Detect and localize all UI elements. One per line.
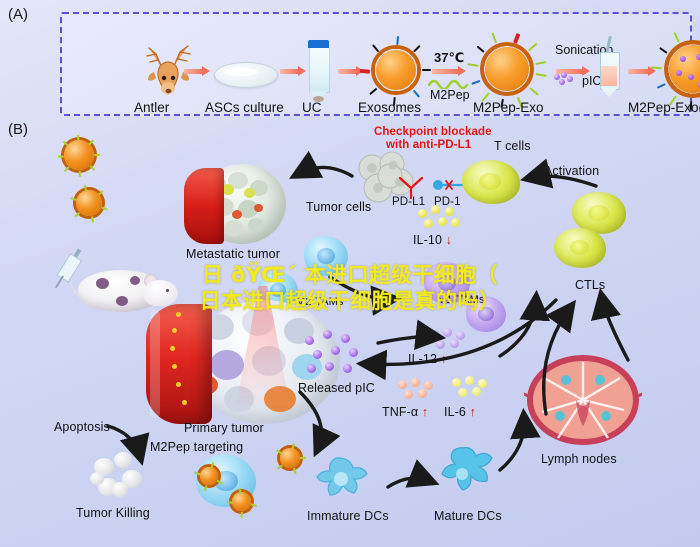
label-lymph-nodes: Lymph nodes xyxy=(541,452,617,466)
metastatic-tumor-illustration xyxy=(184,158,294,250)
label-tumor-killing: Tumor Killing xyxy=(76,506,150,520)
apoptotic-cell-illustration xyxy=(88,448,150,506)
arrow-ascs-to-uc xyxy=(280,66,306,75)
nanoparticle-illustration xyxy=(200,467,218,485)
cytokine-arrow-tnf-alpha: ↑ xyxy=(422,405,428,419)
label-checkpoint-blockade-line2: with anti-PD-L1 xyxy=(386,139,471,152)
arrow-tumor-cells-to-metastatic xyxy=(298,167,352,176)
cytokine-name-il6: IL-6 xyxy=(444,405,466,419)
panel-a-letter: (A) xyxy=(8,6,28,23)
label-ctls: CTLs xyxy=(575,278,605,292)
label-checkpoint-blockade-line1: Checkpoint blockade xyxy=(374,126,492,139)
nanoparticle-illustration xyxy=(232,492,251,511)
exosome-particle xyxy=(368,42,424,98)
m2pep-exosome-pic-particle xyxy=(660,36,700,102)
label-m2pep-targeting: M2Pep targeting xyxy=(150,440,243,454)
panel-a-label-ascs: ASCs culture xyxy=(205,100,284,115)
petri-dish-illustration xyxy=(214,62,278,88)
panel-a-label-temperature: 37℃ xyxy=(434,50,464,66)
cytokine-name-tnf-alpha: TNF-α xyxy=(382,405,418,419)
arrow-antler-to-ascs xyxy=(184,66,210,75)
arrow-exosomes-to-m2pep-exo xyxy=(432,66,466,75)
label-cytokine-il12: IL-12 ↑ xyxy=(408,352,447,366)
pic-molecule-dots xyxy=(554,72,578,86)
arrow-lymph-to-ctls-right xyxy=(602,298,628,360)
anti-pd-l1-antibody-icon xyxy=(398,176,424,198)
arrow-m1-to-ctl xyxy=(500,300,536,356)
immature-dendritic-cell-illustration xyxy=(306,452,376,513)
label-m1-tams: M1-TAMs xyxy=(437,294,485,306)
panel-a-container: Antler ASCs culture UC Exosomes 37℃ xyxy=(60,12,692,116)
mature-dendritic-cell-illustration xyxy=(424,444,502,513)
label-immature-dcs: Immature DCs xyxy=(307,509,389,523)
arrow-pic-to-il12 xyxy=(378,337,436,343)
label-released-pic: Released pIC xyxy=(298,381,375,395)
scientific-figure: (A) Antler ASCs culture xyxy=(0,0,700,547)
label-t-cells: T cells xyxy=(494,139,531,153)
panel-a-label-uc: UC xyxy=(302,100,322,115)
cytokine-arrow-il10: ↓ xyxy=(446,233,452,247)
lymph-node-illustration xyxy=(524,352,642,448)
panel-a-label-antler: Antler xyxy=(134,100,169,115)
label-cytokine-il6: IL-6 ↑ xyxy=(444,405,476,419)
m2-macrophage-illustration xyxy=(304,236,348,276)
label-primary-tumor: Primary tumor xyxy=(184,421,264,435)
centrifuge-tube-illustration xyxy=(308,40,329,102)
nanoparticle-illustration xyxy=(76,190,102,216)
label-cytokine-tnf-alpha: TNF-α ↑ xyxy=(382,405,428,419)
label-mature-dcs: Mature DCs xyxy=(434,509,502,523)
panel-a-label-exosomes: Exosomes xyxy=(358,100,421,115)
released-pic-dots xyxy=(305,330,371,376)
cytokine-arrow-il12: ↑ xyxy=(441,352,447,366)
arrow-mature-dc-to-lymph xyxy=(500,418,524,470)
sonicator-tube-illustration xyxy=(598,42,620,100)
panel-a-label-m2pep: M2Pep xyxy=(430,88,470,102)
nanoparticle-illustration xyxy=(64,140,94,170)
t-cell-illustration xyxy=(462,160,520,204)
panel-b-letter: (B) xyxy=(8,121,28,138)
m2pep-exosome-particle xyxy=(476,38,538,100)
panel-a-label-m2pep-exo-pic: M2Pep-Exo(pIC) xyxy=(628,100,700,115)
nanoparticle-illustration xyxy=(280,448,300,468)
tnf-alpha-cytokine-dots xyxy=(398,378,440,402)
panel-a-label-m2pep-exo: M2Pep-Exo xyxy=(473,100,544,115)
ctl-cell-illustration xyxy=(554,228,606,268)
cytokine-name-il10: IL-10 xyxy=(413,233,442,247)
il10-cytokine-dots xyxy=(418,205,464,231)
il12-cytokine-dots xyxy=(430,328,470,352)
il6-cytokine-dots xyxy=(452,376,494,400)
cytokine-name-il12: IL-12 xyxy=(408,352,437,366)
label-cytokine-il10: IL-10 ↓ xyxy=(413,233,452,247)
label-apoptosis: Apoptosis xyxy=(54,420,110,434)
label-metastatic-tumor: Metastatic tumor xyxy=(186,247,280,261)
label-activation: Activation xyxy=(544,164,599,178)
label-tumor-cells: Tumor cells xyxy=(306,200,371,214)
cytokine-arrow-il6: ↑ xyxy=(470,405,476,419)
